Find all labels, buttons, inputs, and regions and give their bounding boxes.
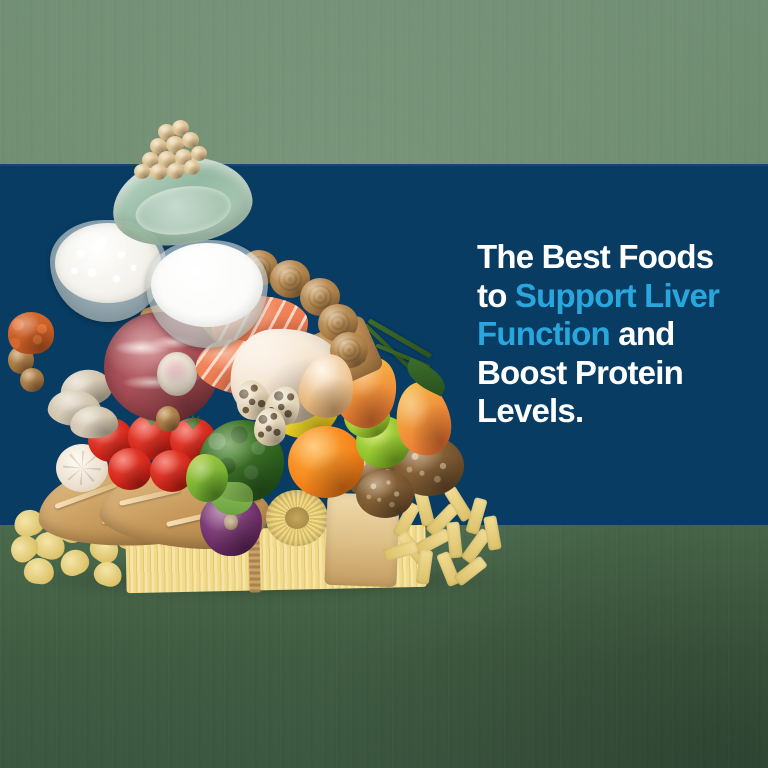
tagliatelle-nest xyxy=(266,490,328,546)
beef-bone xyxy=(157,352,196,396)
headline-line-4: Boost Protein xyxy=(477,354,762,393)
poster-canvas: The Best Foods to Support Liver Function… xyxy=(0,0,768,768)
tomato xyxy=(108,448,152,490)
headline: The Best Foods to Support Liver Function… xyxy=(477,238,762,431)
hazelnut xyxy=(156,406,180,432)
chickpea xyxy=(134,164,150,179)
chickpea xyxy=(191,146,207,161)
headline-line-3: Function and xyxy=(477,315,762,354)
headline-line-5: Levels. xyxy=(477,392,762,431)
green-pepper xyxy=(186,454,228,502)
penne-pasta xyxy=(483,515,502,551)
headline-line-1: The Best Foods xyxy=(477,238,762,277)
rye-roll xyxy=(356,470,414,518)
red-lentils xyxy=(8,312,54,354)
chickpea xyxy=(167,163,184,179)
headline-line-2: to Support Liver xyxy=(477,277,762,316)
hazelnut xyxy=(20,368,44,392)
chickpea xyxy=(150,164,167,180)
glass-bowl-rim xyxy=(133,181,234,240)
chickpea xyxy=(184,160,200,175)
milk xyxy=(151,243,263,327)
food-pyramid-image xyxy=(8,118,520,586)
orange xyxy=(288,426,364,498)
quail-egg xyxy=(254,408,286,446)
